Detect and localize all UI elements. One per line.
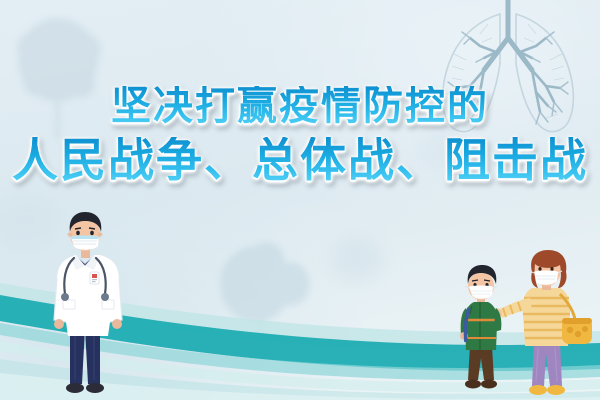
mother-handbag	[560, 294, 592, 344]
doctor-eye-left	[76, 231, 80, 235]
doctor-shoe-right	[86, 383, 104, 393]
mother-shoe-left	[529, 385, 547, 395]
boy-head	[465, 265, 497, 300]
doctor-shoe-left	[66, 383, 84, 393]
doctor-figure	[32, 208, 144, 400]
boy-shoe-left	[465, 380, 481, 389]
mother-head	[530, 250, 567, 288]
mother-and-child-figure	[456, 250, 600, 400]
boy-figure	[460, 265, 501, 389]
lungs-illustration	[418, 0, 598, 144]
poster-canvas: 坚决打赢疫情防控的 人民战争、总体战、阻击战	[0, 0, 600, 400]
mother-shoe-right	[547, 385, 565, 395]
mother-eye-right	[550, 267, 553, 271]
stethoscope-chestpiece-right	[101, 293, 109, 301]
boy-shoe-right	[481, 380, 497, 389]
doctor-hand-right	[112, 319, 122, 329]
mother-figure	[490, 250, 592, 395]
stethoscope-chestpiece-left	[61, 293, 69, 301]
boy-trousers	[468, 346, 494, 380]
doctor-hand-left	[54, 319, 64, 329]
dandelion-bokeh-top-left	[6, 12, 116, 142]
doctor-id-badge	[90, 272, 99, 284]
doctor-eye-right	[90, 231, 94, 235]
mother-eye-left	[538, 267, 541, 271]
